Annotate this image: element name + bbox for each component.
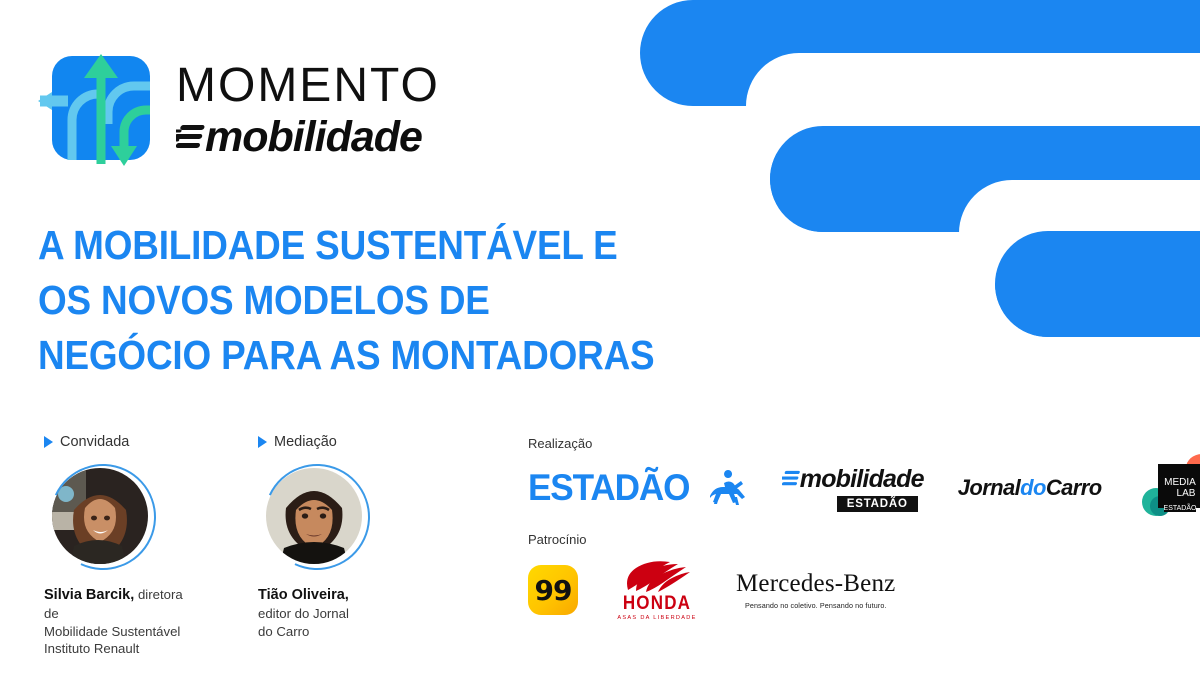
patrocinio-label: Patrocínio <box>528 532 1178 547</box>
speed-lines-icon <box>782 468 802 490</box>
honda-logo-text: HONDA <box>623 591 691 614</box>
headline-line-2: OS NOVOS MODELOS DE <box>38 273 654 327</box>
headline-line-1: A MOBILIDADE SUSTENTÁVEL E <box>38 218 654 272</box>
mercedes-benz-tagline: Pensando no coletivo. Pensando no futuro… <box>745 601 887 610</box>
patrocinio-logo-row: 99 HONDA ASAS DA LIBERDADE Mercedes-Benz… <box>528 559 1178 621</box>
noventa-e-nove-logo: 99 <box>528 565 578 615</box>
99-logo-text: 99 <box>535 574 572 607</box>
jdc-do-text: do <box>1020 475 1046 500</box>
speaker-card-mediacao: Mediação Tião Oliveira, editor <box>258 432 406 657</box>
triangle-right-icon <box>44 436 53 448</box>
jdc-carro-text: Carro <box>1046 475 1102 500</box>
speaker-bio: Silvia Barcik, diretora de Mobilidade Su… <box>44 586 192 657</box>
honda-wing-icon <box>620 560 694 594</box>
jdc-jornal-text: Jornal <box>958 475 1020 500</box>
speaker-role-label: Mediação <box>274 434 337 450</box>
estadao-badge: ESTADÃO <box>837 496 918 512</box>
speaker-role-label: Convidada <box>60 434 129 450</box>
horseman-icon <box>704 466 748 510</box>
speed-lines-icon <box>176 121 208 155</box>
speaker-bio-line-2: editor do Jornal <box>258 606 349 621</box>
speaker-name: Silvia Barcik, <box>44 587 134 603</box>
triangle-right-icon <box>258 436 267 448</box>
realizacao-label: Realização <box>528 436 1178 451</box>
avatar-ring <box>249 449 385 585</box>
page-title: A MOBILIDADE SUSTENTÁVEL E OS NOVOS MODE… <box>38 218 654 383</box>
speaker-name: Tião Oliveira, <box>258 587 349 603</box>
speaker-card-convidada: Convidada Silvia Barcik, <box>44 432 192 657</box>
speaker-bio-line-3: Instituto Renault <box>44 641 139 656</box>
logo-mobilidade-text: mobilidade <box>205 116 422 159</box>
speakers-section: Convidada Silvia Barcik, <box>44 432 406 657</box>
media-lab-estadao-logo: MEDIA LAB ESTADÃO <box>1136 450 1200 526</box>
avatar <box>50 464 156 570</box>
honda-tagline: ASAS DA LIBERDADE <box>617 615 696 621</box>
sponsors-section: Realização ESTADÃO <box>528 436 1178 621</box>
mercedes-benz-logo: Mercedes-Benz Pensando no coletivo. Pens… <box>736 570 895 610</box>
mobilidade-logo-text: mobilidade <box>800 465 924 494</box>
media-lab-badge: ESTADÃO <box>1163 503 1196 512</box>
speaker-bio-line-3: do Carro <box>258 624 309 639</box>
media-lab-line-2: LAB <box>1176 488 1195 499</box>
speaker-role-row: Mediação <box>258 432 406 452</box>
avatar <box>264 464 370 570</box>
momento-mobilidade-mark-icon <box>38 48 158 168</box>
media-lab-line-1: MEDIA <box>1164 477 1196 488</box>
mercedes-benz-logo-text: Mercedes-Benz <box>736 570 895 598</box>
speaker-role-row: Convidada <box>44 432 192 452</box>
headline-line-3: NEGÓCIO PARA AS MONTADORAS <box>38 328 654 382</box>
avatar-ring <box>35 449 171 585</box>
estadao-logo: ESTADÃO <box>528 466 748 510</box>
realizacao-logo-row: ESTADÃO <box>528 456 1178 520</box>
mobilidade-estadao-logo: mobilidade ESTADÃO <box>782 465 924 512</box>
logo-momento-text: MOMENTO <box>176 62 440 110</box>
speaker-bio-line-2: Mobilidade Sustentável <box>44 624 180 639</box>
speaker-bio: Tião Oliveira, editor do Jornal do Carro <box>258 586 406 640</box>
estadao-logo-text: ESTADÃO <box>528 467 689 509</box>
honda-logo: HONDA ASAS DA LIBERDADE <box>612 560 702 621</box>
brand-logo-lockup: MOMENTO mobilidade <box>38 48 440 168</box>
jornal-do-carro-logo: JornaldoCarro <box>958 475 1102 501</box>
media-lab-shapes-icon: MEDIA LAB ESTADÃO <box>1136 450 1200 526</box>
